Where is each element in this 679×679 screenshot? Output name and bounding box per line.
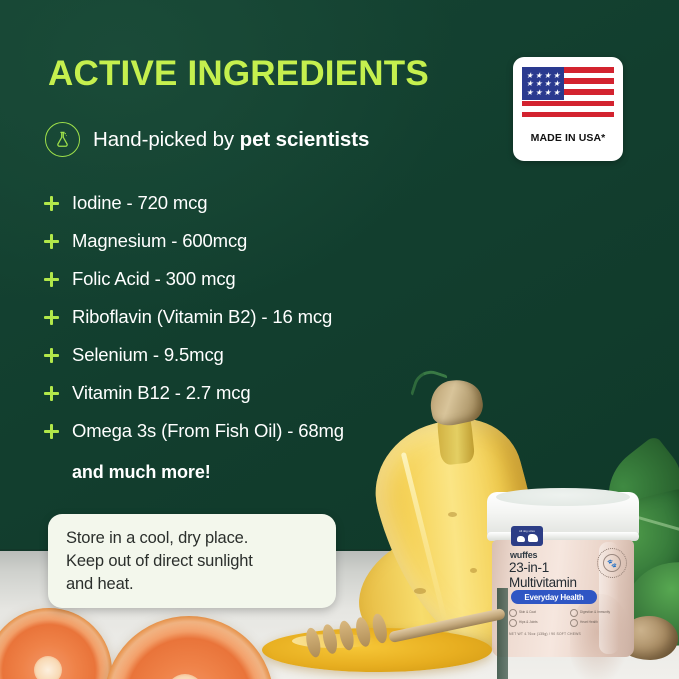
made-in-usa-label: MADE IN USA* bbox=[522, 132, 614, 144]
benefit-label: Digestion & Immunity bbox=[580, 611, 610, 614]
made-in-usa-badge: ★★★★ ★★★★ ★★★★ MADE IN USA* bbox=[513, 57, 623, 161]
product-jar-image: All dog sizes wuffes 23-in-1 Multivitami… bbox=[487, 492, 639, 657]
storage-line: Store in a cool, dry place. bbox=[66, 527, 319, 550]
jar-benefit-item: Digestion & Immunity bbox=[570, 609, 625, 617]
ingredient-label: Omega 3s (From Fish Oil) - 68mg bbox=[72, 420, 344, 442]
jar-benefit-item: Heart Health bbox=[570, 619, 625, 627]
ingredient-label: Magnesium - 600mcg bbox=[72, 230, 247, 252]
ingredient-label: Riboflavin (Vitamin B2) - 16 mcg bbox=[72, 306, 332, 328]
benefit-icon bbox=[509, 609, 517, 617]
plus-icon bbox=[44, 234, 59, 249]
ingredient-label: Folic Acid - 300 mcg bbox=[72, 268, 236, 290]
jar-brand-name: wuffes bbox=[510, 550, 537, 560]
storage-line: and heat. bbox=[66, 573, 319, 596]
subtitle-bold: pet scientists bbox=[240, 128, 370, 151]
plus-icon bbox=[44, 386, 59, 401]
ingredient-label: Vitamin B12 - 2.7 mcg bbox=[72, 382, 251, 404]
jar-dog-badge-text: All dog sizes bbox=[519, 530, 535, 533]
jar-benefit-list: Skin & Coat Digestion & Immunity Hips & … bbox=[509, 609, 625, 627]
jar-everyday-health-pill: Everyday Health bbox=[511, 590, 597, 604]
benefit-icon bbox=[509, 619, 517, 627]
ingredient-label: Selenium - 9.5mcg bbox=[72, 344, 224, 366]
storage-line: Keep out of direct sunlight bbox=[66, 550, 319, 573]
plus-icon bbox=[44, 310, 59, 325]
dog-silhouette-icon bbox=[517, 534, 538, 542]
storage-instructions-card: Store in a cool, dry place. Keep out of … bbox=[48, 514, 336, 608]
jar-title-line-2: Multivitamin bbox=[509, 576, 577, 591]
benefit-label: Heart Health bbox=[580, 621, 598, 624]
benefit-icon bbox=[570, 609, 578, 617]
paw-seal-icon: 🐾 bbox=[597, 548, 627, 578]
ingredient-item: Folic Acid - 300 mcg bbox=[44, 268, 474, 306]
jar-product-title: 23-in-1 Multivitamin bbox=[509, 561, 577, 590]
benefit-icon bbox=[570, 619, 578, 627]
ingredient-label: Iodine - 720 mcg bbox=[72, 192, 207, 214]
plus-icon bbox=[44, 348, 59, 363]
subtitle-row: Hand-picked by pet scientists bbox=[45, 122, 369, 157]
orange-core bbox=[34, 656, 62, 679]
ingredient-item: Vitamin B12 - 2.7 mcg bbox=[44, 382, 474, 420]
ingredient-list: Iodine - 720 mcg Magnesium - 600mcg Foli… bbox=[44, 192, 474, 483]
ingredient-list-footer: and much more! bbox=[72, 458, 474, 483]
flask-icon bbox=[45, 122, 80, 157]
jar-all-dog-sizes-badge: All dog sizes bbox=[511, 526, 543, 546]
jar-pill-label: Everyday Health bbox=[524, 593, 583, 602]
ingredient-item: Magnesium - 600mcg bbox=[44, 230, 474, 268]
jar-net-weight: NET WT 4.76oz (135g) / 90 SOFT CHEWS bbox=[509, 632, 581, 636]
flag-canton: ★★★★ ★★★★ ★★★★ bbox=[522, 67, 564, 100]
plus-icon bbox=[44, 196, 59, 211]
ingredient-item: Riboflavin (Vitamin B2) - 16 mcg bbox=[44, 306, 474, 344]
ingredient-item: Selenium - 9.5mcg bbox=[44, 344, 474, 382]
ingredient-item: Omega 3s (From Fish Oil) - 68mg bbox=[44, 420, 474, 458]
jar-benefit-item: Skin & Coat bbox=[509, 609, 564, 617]
benefit-label: Hips & Joints bbox=[519, 621, 538, 624]
jar-benefit-item: Hips & Joints bbox=[509, 619, 564, 627]
ingredient-item: Iodine - 720 mcg bbox=[44, 192, 474, 230]
subtitle-plain: Hand-picked by bbox=[93, 128, 240, 151]
plus-icon bbox=[44, 424, 59, 439]
marketing-image-canvas: All dog sizes wuffes 23-in-1 Multivitami… bbox=[0, 0, 679, 679]
benefit-label: Skin & Coat bbox=[519, 611, 536, 614]
jar-title-line-1: 23-in-1 bbox=[509, 561, 577, 576]
page-title: ACTIVE INGREDIENTS bbox=[48, 56, 429, 91]
plus-icon bbox=[44, 272, 59, 287]
usa-flag-icon: ★★★★ ★★★★ ★★★★ bbox=[522, 67, 614, 125]
subtitle-text: Hand-picked by pet scientists bbox=[93, 128, 369, 152]
